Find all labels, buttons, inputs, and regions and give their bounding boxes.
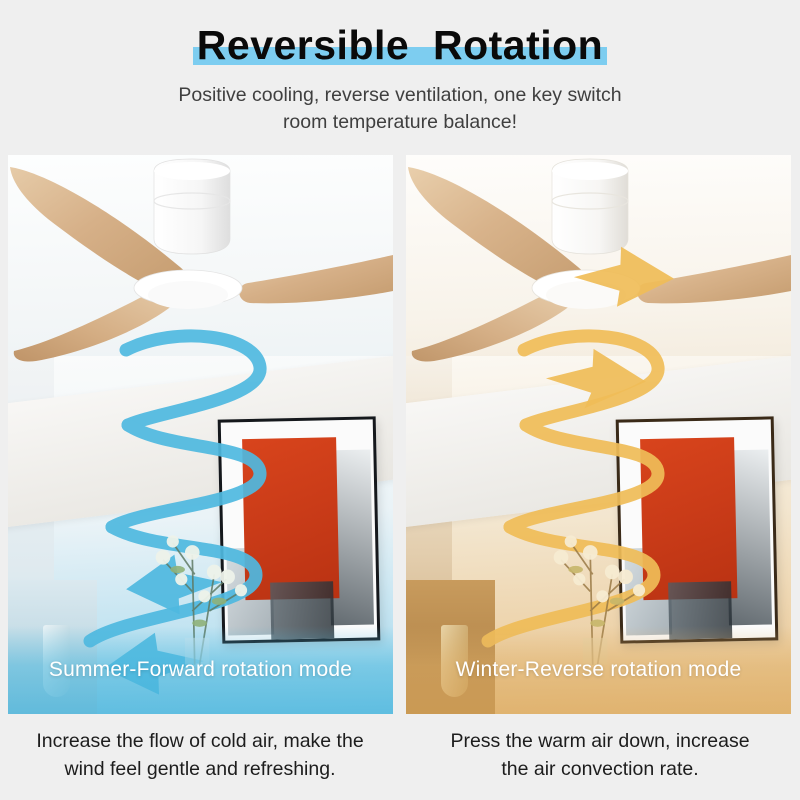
footer-summer-line-2: wind feel gentle and refreshing.	[0, 756, 400, 784]
housing-top	[154, 162, 230, 180]
footer-captions: Increase the flow of cold air, make the …	[0, 728, 800, 783]
page-title: Reversible Rotation	[191, 22, 609, 69]
comparison-panels: Summer-Forward rotation mode	[8, 155, 792, 714]
panel-caption-band-winter: Winter-Reverse rotation mode	[406, 626, 791, 714]
footer-summer: Increase the flow of cold air, make the …	[0, 728, 400, 783]
subtitle: Positive cooling, reverse ventilation, o…	[0, 82, 800, 136]
subtitle-line-2: room temperature balance!	[0, 109, 800, 136]
fan-hub-cap	[546, 281, 626, 309]
panel-caption-winter: Winter-Reverse rotation mode	[456, 658, 742, 682]
panel-summer: Summer-Forward rotation mode	[8, 155, 393, 714]
footer-summer-line-1: Increase the flow of cold air, make the	[0, 728, 400, 756]
subtitle-line-1: Positive cooling, reverse ventilation, o…	[0, 82, 800, 109]
fan-blade	[239, 255, 393, 303]
panel-caption-summer: Summer-Forward rotation mode	[49, 658, 352, 682]
panel-winter: Winter-Reverse rotation mode	[406, 155, 791, 714]
footer-winter: Press the warm air down, increase the ai…	[400, 728, 800, 783]
panel-caption-band-summer: Summer-Forward rotation mode	[8, 626, 393, 714]
housing-top	[552, 162, 628, 180]
footer-winter-line-2: the air convection rate.	[400, 756, 800, 784]
page-title-text: Reversible Rotation	[197, 22, 603, 69]
fan-hub-cap	[148, 281, 228, 309]
header: Reversible Rotation Positive cooling, re…	[0, 0, 800, 136]
footer-winter-line-1: Press the warm air down, increase	[400, 728, 800, 756]
fan-blade	[637, 255, 791, 303]
